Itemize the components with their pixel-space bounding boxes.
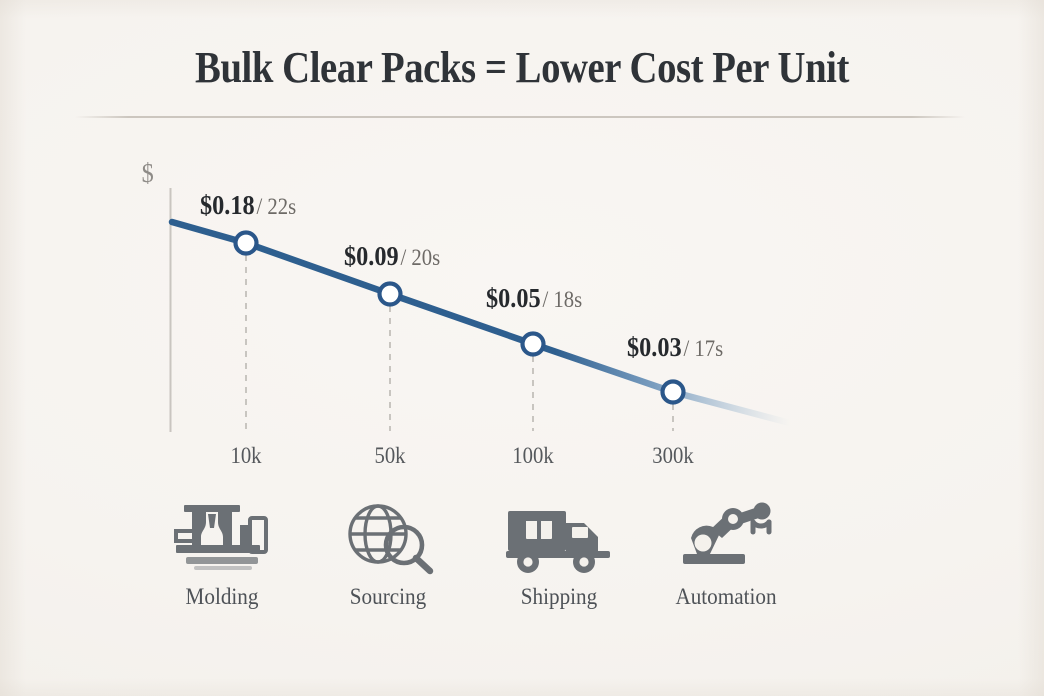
icon-item-sourcing: Sourcing	[313, 500, 463, 610]
icon-item-automation: Automation	[651, 500, 801, 610]
point-cycle-300k: / 17s	[683, 336, 723, 361]
point-cycle-50k: / 20s	[400, 245, 440, 270]
point-label-50k: $0.09/ 20s	[344, 241, 440, 272]
trend-line	[172, 222, 790, 423]
point-label-10k: $0.18/ 22s	[200, 190, 296, 221]
point-label-300k: $0.03/ 17s	[627, 332, 723, 363]
icon-item-molding: Molding	[147, 500, 297, 610]
droplines	[246, 243, 673, 431]
gridlines	[170, 255, 760, 327]
icon-label-shipping: Shipping	[490, 584, 628, 610]
point-price-50k: $0.09	[344, 241, 399, 271]
sourcing-icon	[313, 500, 463, 578]
y-axis-label: $	[142, 158, 154, 189]
point-price-300k: $0.03	[627, 332, 682, 362]
icon-label-sourcing: Sourcing	[319, 584, 457, 610]
icon-item-shipping: Shipping	[484, 500, 634, 610]
point-price-10k: $0.18	[200, 190, 255, 220]
automation-icon	[651, 500, 801, 578]
point-cycle-100k: / 18s	[542, 287, 582, 312]
point-price-100k: $0.05	[486, 283, 541, 313]
x-tick-300k: 300k	[619, 443, 727, 469]
x-tick-50k: 50k	[336, 443, 444, 469]
shipping-icon	[484, 500, 634, 578]
x-tick-100k: 100k	[479, 443, 587, 469]
icon-label-molding: Molding	[153, 584, 291, 610]
x-tick-10k: 10k	[192, 443, 300, 469]
point-label-100k: $0.05/ 18s	[486, 283, 582, 314]
molding-icon	[147, 500, 297, 578]
point-cycle-10k: / 22s	[256, 194, 296, 219]
icon-label-automation: Automation	[657, 584, 795, 610]
infographic-poster: Bulk Clear Packs = Lower Cost Per Unit	[0, 0, 1044, 696]
